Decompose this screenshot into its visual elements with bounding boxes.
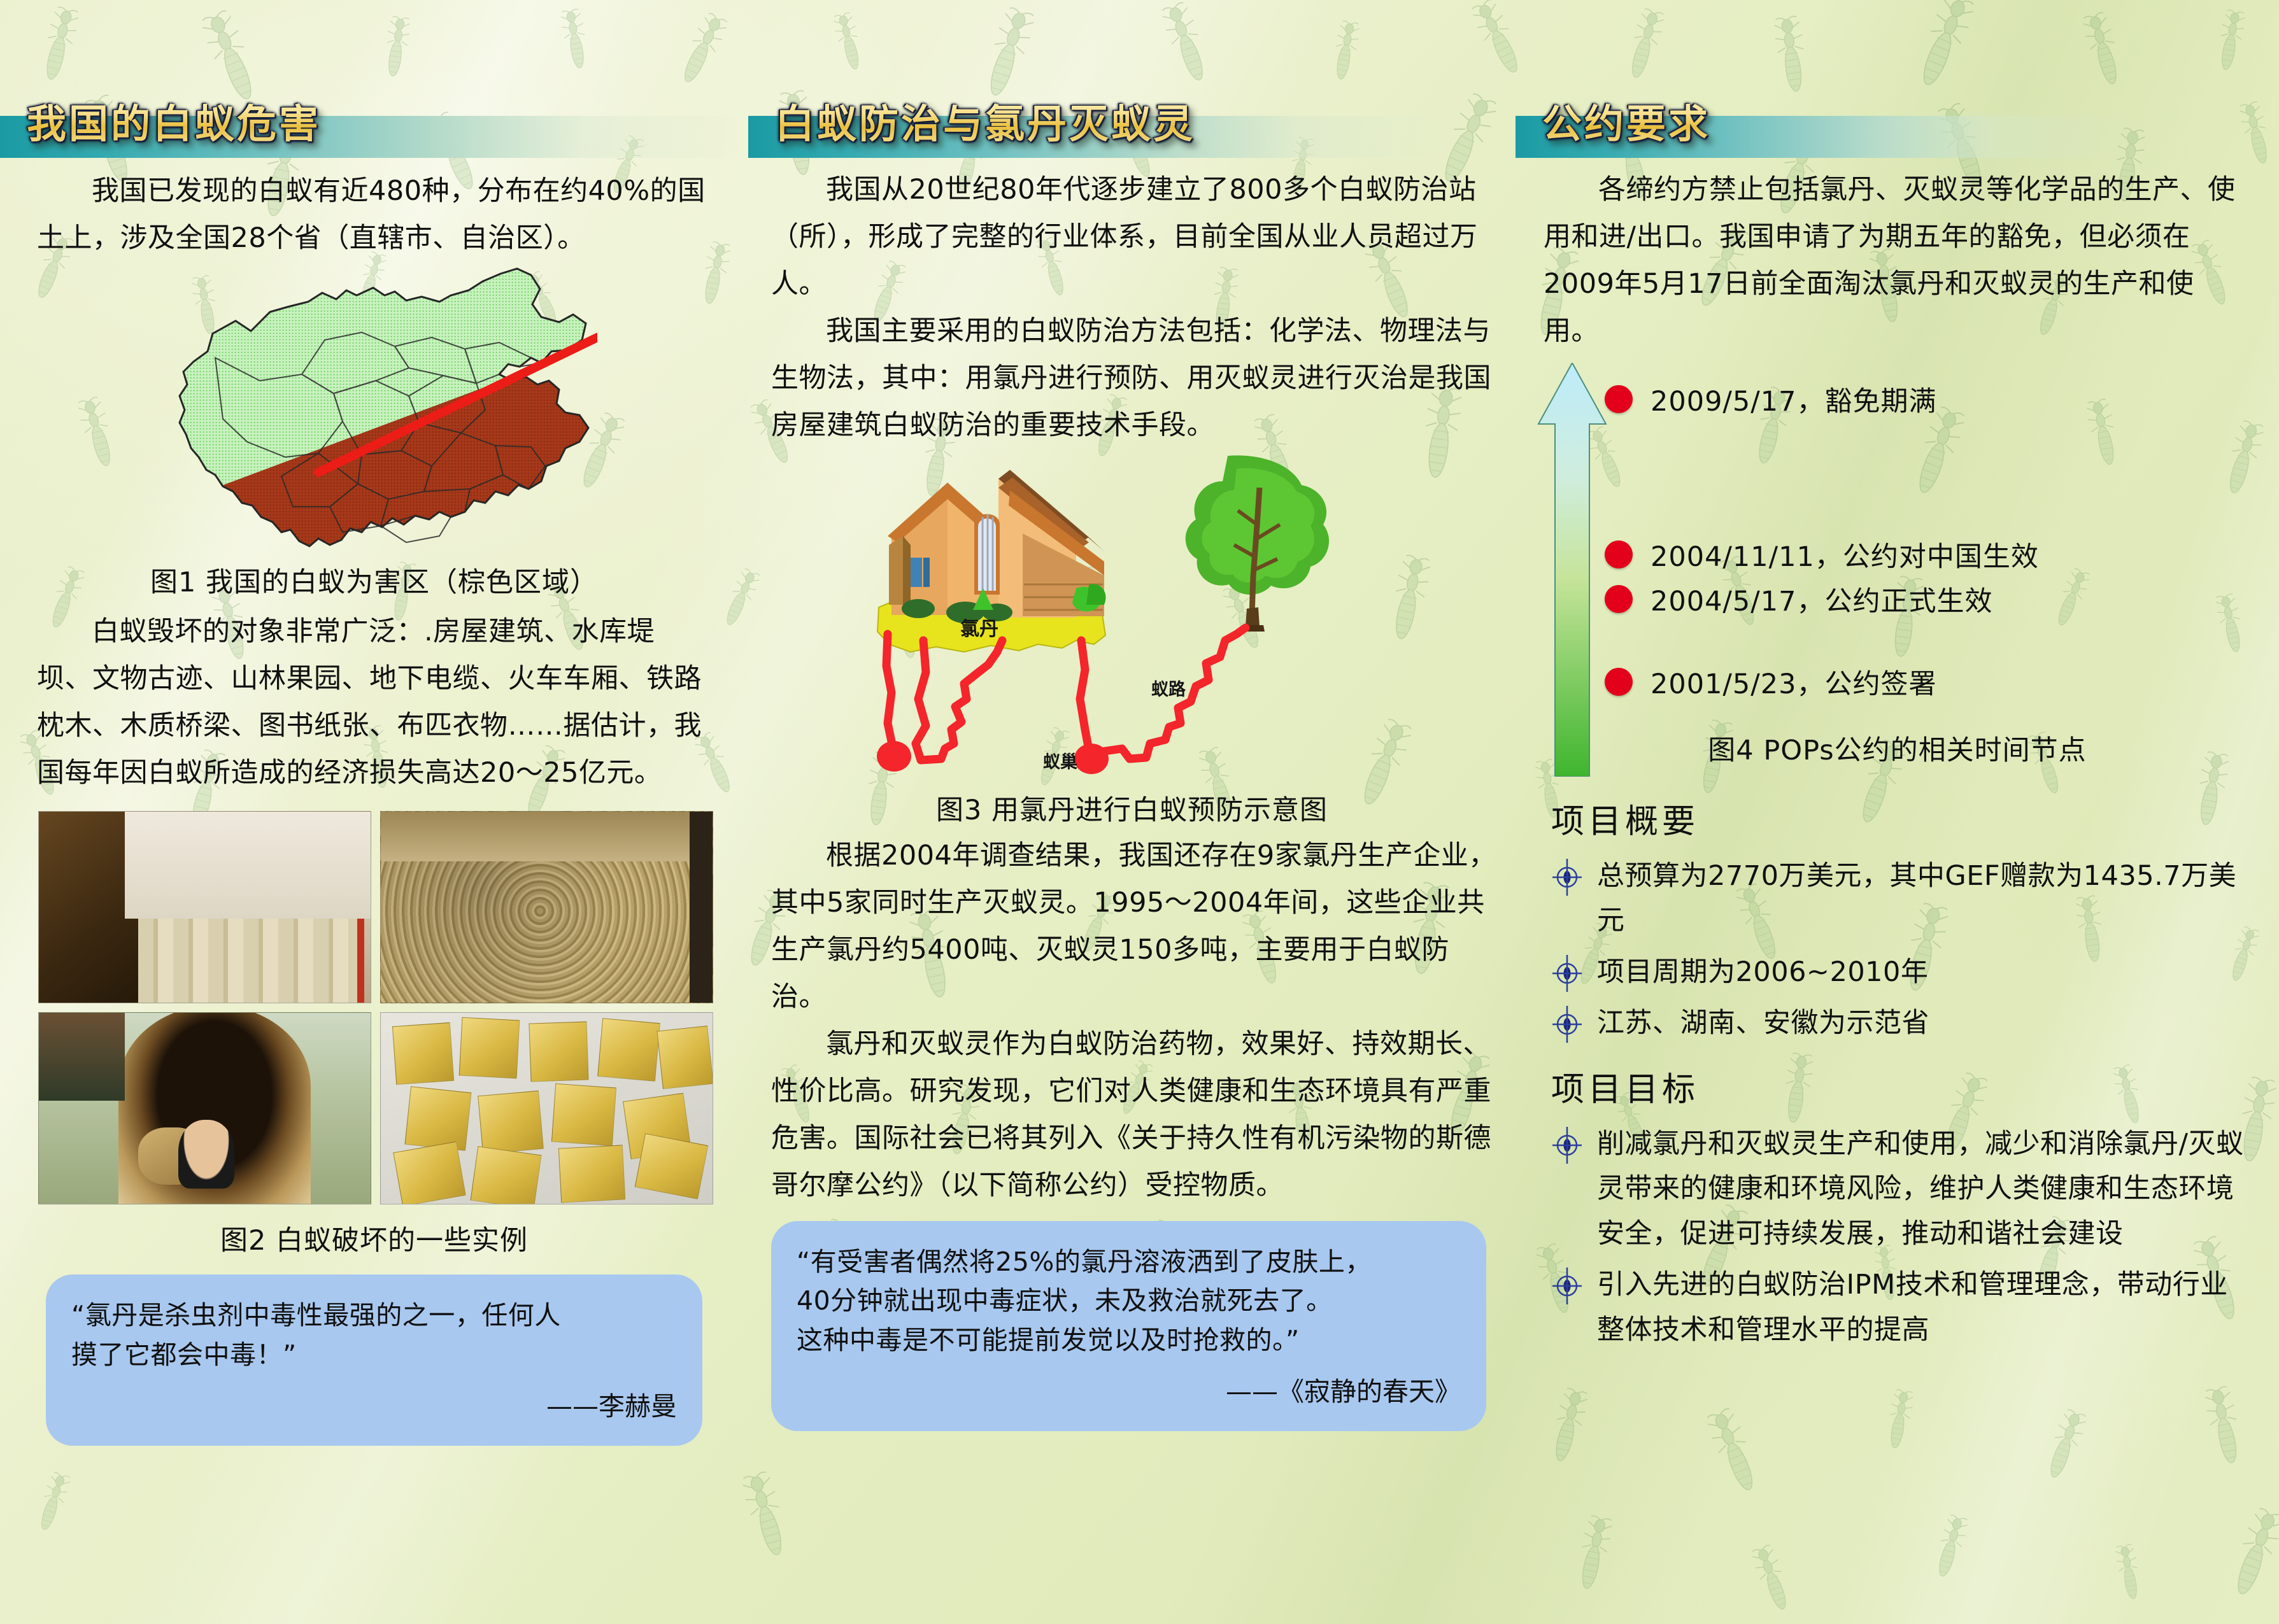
middle-paragraph-1: 我国从20世纪80年代逐步建立了800多个白蚁防治站（所），形成了完整的行业体系… — [771, 167, 1489, 308]
ant-nest-marker-center — [1074, 744, 1109, 774]
project-summary-item-1: 项目周期为2006~2010年 — [1597, 950, 1928, 995]
china-termite-damage-map — [152, 262, 597, 561]
figure3-caption: 图3 用氯丹进行白蚁预防示意图 — [748, 791, 1516, 830]
photo-hollowed-tree-with-man — [38, 1012, 371, 1204]
project-summary-list: 总预算为2770万美元，其中GEF赠款为1435.7万美元 项目周期为2006~… — [1551, 854, 2254, 1046]
photo-damaged-banknotes — [380, 1012, 713, 1204]
timeline-dot-icon — [1605, 385, 1633, 413]
project-goals-list: 削减氯丹和灭蚁灵生产和使用，减少和消除氯丹/灭蚁灵带来的健康和环境风险，维护人类… — [1551, 1122, 2254, 1353]
house-illustration — [888, 470, 1106, 623]
quote-left-line2: 摸了它都会中毒！” — [71, 1336, 677, 1375]
figure2-caption: 图2 白蚁破坏的一些实例 — [0, 1221, 748, 1260]
list-item: 江苏、湖南、安徽为示范省 — [1551, 1001, 2254, 1046]
column-left: 我国的白蚁危害 我国已发现的白蚁有近480种，分布在约40%的国土上，涉及全国2… — [0, 0, 748, 1446]
middle-paragraph-2: 我国主要采用的白蚁防治方法包括：化学法、物理法与生物法，其中：用氯丹进行预防、用… — [771, 308, 1496, 449]
quote-box-middle: “有受害者偶然将25%的氯丹溶液洒到了皮肤上， 40分钟就出现中毒症状，未及救治… — [771, 1221, 1486, 1431]
termite-watermark-icon — [1929, 1513, 1971, 1582]
label-ant-nest: 蚁巢 — [1043, 752, 1077, 772]
quote-left-source: ——李赫曼 — [71, 1387, 677, 1427]
termite-damage-photo-grid — [38, 811, 713, 1204]
quote-left-line1: “氯丹是杀虫剂中毒性最强的之一，任何人 — [71, 1296, 677, 1336]
termite-watermark-icon — [1572, 1513, 1616, 1594]
timeline-label-0: 2009/5/17，豁免期满 — [1651, 379, 1936, 419]
project-goals-item-0: 削减氯丹和灭蚁灵生产和使用，减少和消除氯丹/灭蚁灵带来的健康和环境风险，维护人类… — [1597, 1122, 2254, 1257]
list-item: 削减氯丹和灭蚁灵生产和使用，减少和消除氯丹/灭蚁灵带来的健康和环境风险，维护人类… — [1551, 1122, 2254, 1257]
termite-watermark-icon — [1545, 1385, 1592, 1467]
middle-paragraph-4: 氯丹和灭蚁灵作为白蚁防治药物，效果好、持效期长、性价比高。研究发现，它们对人类健… — [771, 1021, 1502, 1210]
photo-collapsed-house-interior — [38, 811, 371, 1003]
project-summary-section: 项目概要 总预算为2770万美元，其中GEF赠款为1435.7万美元 项目周期为… — [1551, 794, 2254, 1046]
termite-watermark-icon — [1748, 1542, 1796, 1616]
list-item: 引入先进的白蚁防治IPM技术和管理理念，带动行业整体技术和管理水平的提高 — [1551, 1262, 2254, 1352]
timeline-dot-icon — [1605, 585, 1633, 613]
tree-illustration — [1185, 455, 1328, 632]
target-bullet-icon — [1551, 1266, 1583, 1306]
project-goals-title: 项目目标 — [1551, 1063, 2254, 1110]
termite-watermark-icon — [2040, 1406, 2091, 1484]
quote-box-left: “氯丹是杀虫剂中毒性最强的之一，任何人 摸了它都会中毒！” ——李赫曼 — [46, 1274, 702, 1446]
figure4-caption: 图4 POPs公约的相关时间节点 — [1516, 731, 2279, 770]
termite-watermark-icon — [32, 1470, 74, 1536]
right-paragraph-1: 各缔约方禁止包括氯丹、灭蚁灵等化学品的生产、使用和进/出口。我国申请了为期五年的… — [1544, 167, 2246, 355]
list-item: 项目周期为2006~2010年 — [1551, 950, 2254, 995]
termite-watermark-icon — [2224, 1504, 2279, 1602]
timeline-label-2: 2004/5/17，公约正式生效 — [1651, 579, 1992, 619]
section-header-middle: 白蚁防治与氯丹灭蚁灵 — [748, 83, 1516, 158]
project-summary-item-0: 总预算为2770万美元，其中GEF赠款为1435.7万美元 — [1597, 854, 2254, 943]
timeline-dot-icon — [1605, 540, 1633, 568]
termite-watermark-icon — [1702, 1404, 1766, 1499]
section-title-right: 公约要求 — [1542, 92, 1710, 149]
section-title-middle: 白蚁防治与氯丹灭蚁灵 — [775, 92, 1195, 149]
pops-convention-timeline: 2009/5/17，豁免期满 2004/11/11，公约对中国生效 2004/5… — [1516, 355, 2279, 794]
termite-watermark-icon — [1883, 1388, 1917, 1452]
timeline-item-0: 2009/5/17，豁免期满 — [1605, 379, 1936, 419]
left-paragraph-2: 白蚁毁坏的对象非常广泛：.房屋建筑、水库堤坝、文物古迹、山林果园、地下电缆、火车… — [37, 609, 710, 797]
timeline-arrow-icon — [1531, 363, 1614, 777]
section-title-left: 我国的白蚁危害 — [27, 92, 321, 149]
timeline-label-1: 2004/11/11，公约对中国生效 — [1651, 535, 2039, 574]
timeline-label-3: 2001/5/23，公约签署 — [1651, 662, 1936, 702]
list-item: 总预算为2770万美元，其中GEF赠款为1435.7万美元 — [1551, 854, 2254, 943]
project-goals-item-1: 引入先进的白蚁防治IPM技术和管理理念，带动行业整体技术和管理水平的提高 — [1597, 1262, 2254, 1352]
figure1-caption: 图1 我国的白蚁为害区（棕色区域） — [25, 563, 723, 602]
quote-middle-line3: 这种中毒是不可能提前发觉以及时抢救的。” — [797, 1321, 1461, 1360]
quote-middle-source: ——《寂静的春天》 — [797, 1373, 1461, 1412]
section-header-right: 公约要求 — [1516, 83, 2279, 158]
ant-nest-marker-left — [877, 741, 911, 772]
quote-middle-line2: 40分钟就出现中毒症状，未及救治就死去了。 — [797, 1282, 1461, 1321]
left-paragraph-1: 我国已发现的白蚁有近480种，分布在约40%的国土上，涉及全国28个省（直辖市、… — [37, 168, 710, 262]
termite-watermark-icon — [738, 1468, 795, 1562]
label-chlordane: 氯丹 — [960, 618, 998, 640]
photo-termite-mud-nest — [380, 811, 713, 1003]
target-bullet-icon — [1551, 1005, 1583, 1044]
middle-paragraph-3: 根据2004年调查结果，我国还存在9家氯丹生产企业，其中5家同时生产灭蚁灵。19… — [771, 833, 1496, 1021]
chlordane-prevention-diagram: 氯丹 蚁路 蚁巢 — [852, 449, 1412, 787]
project-summary-item-2: 江苏、湖南、安徽为示范省 — [1597, 1001, 1929, 1046]
target-bullet-icon — [1551, 954, 1583, 993]
target-bullet-icon — [1551, 1126, 1583, 1165]
column-middle: 白蚁防治与氯丹灭蚁灵 我国从20世纪80年代逐步建立了800多个白蚁防治站（所）… — [748, 0, 1516, 1431]
target-bullet-icon — [1551, 858, 1583, 897]
label-ant-path: 蚁路 — [1151, 679, 1186, 700]
timeline-item-2: 2004/5/17，公约正式生效 — [1605, 579, 1992, 619]
quote-middle-line1: “有受害者偶然将25%的氯丹溶液洒到了皮肤上， — [797, 1243, 1461, 1282]
timeline-item-3: 2001/5/23，公约签署 — [1605, 662, 1936, 702]
section-header-left: 我国的白蚁危害 — [0, 83, 748, 158]
timeline-item-1: 2004/11/11，公约对中国生效 — [1605, 535, 2039, 574]
termite-watermark-icon — [2201, 1383, 2247, 1468]
project-summary-title: 项目概要 — [1551, 794, 2254, 842]
termite-watermark-icon — [2113, 1543, 2145, 1603]
project-goals-section: 项目目标 削减氯丹和灭蚁灵生产和使用，减少和消除氯丹/灭蚁灵带来的健康和环境风险… — [1551, 1063, 2254, 1353]
column-right: 公约要求 各缔约方禁止包括氯丹、灭蚁灵等化学品的生产、使用和进/出口。我国申请了… — [1516, 0, 2279, 1359]
timeline-dot-icon — [1605, 668, 1633, 696]
